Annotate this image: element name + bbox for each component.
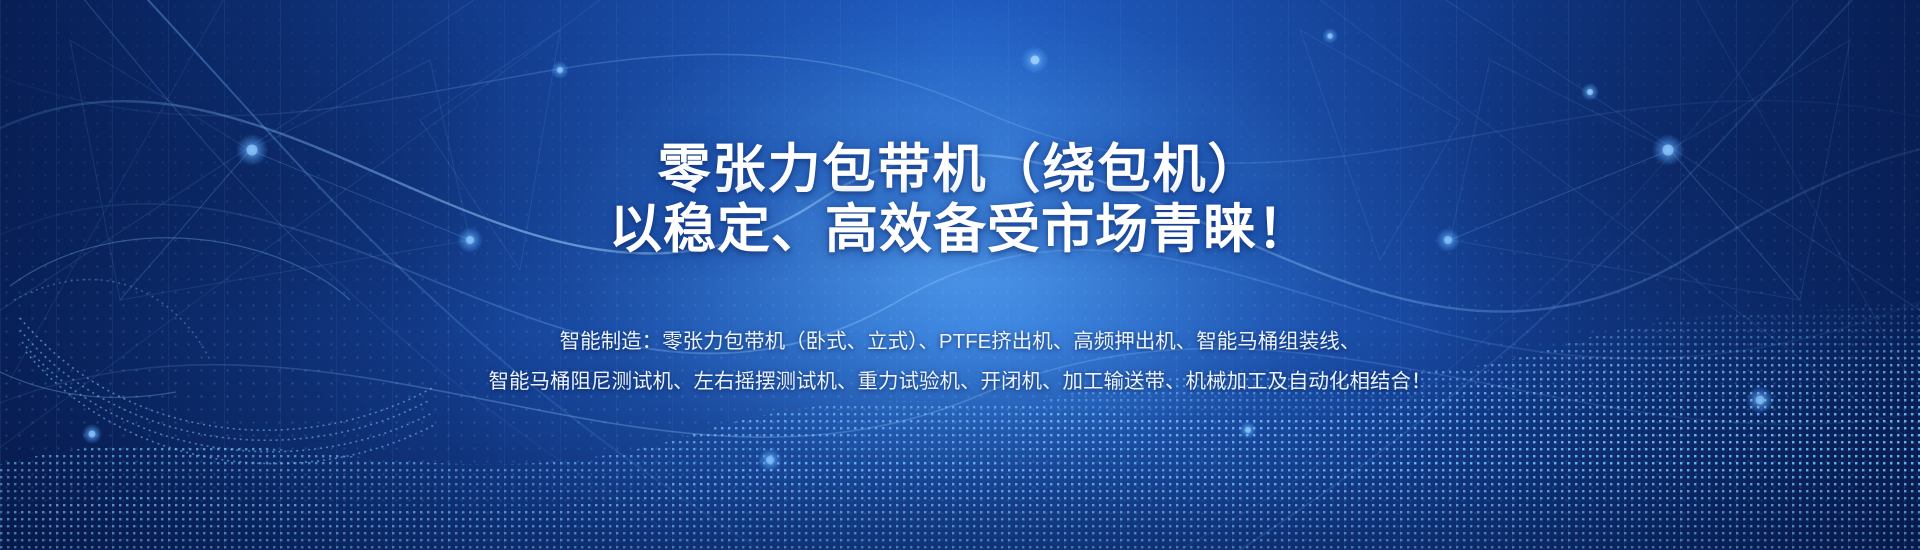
banner-subtitle: 智能制造：零张力包带机（卧式、立式）、PTFE挤出机、高频押出机、智能马桶组装线… xyxy=(489,322,1432,402)
banner-subtitle-line-1: 智能制造：零张力包带机（卧式、立式）、PTFE挤出机、高频押出机、智能马桶组装线… xyxy=(560,330,1361,353)
banner-title-line-1: 零张力包带机（绕包机） xyxy=(658,140,1263,199)
promo-banner: 零张力包带机（绕包机） 以稳定、高效备受市场青睐！ 智能制造：零张力包带机（卧式… xyxy=(0,0,1920,550)
banner-subtitle-line-2: 智能马桶阻尼测试机、左右摇摆测试机、重力试验机、开闭机、加工输送带、机械加工及自… xyxy=(489,370,1432,393)
banner-content: 零张力包带机（绕包机） 以稳定、高效备受市场青睐！ 智能制造：零张力包带机（卧式… xyxy=(0,0,1920,550)
banner-title: 零张力包带机（绕包机） 以稳定、高效备受市场青睐！ xyxy=(609,140,1311,261)
banner-title-line-2: 以稳定、高效备受市场青睐！ xyxy=(609,200,1311,259)
